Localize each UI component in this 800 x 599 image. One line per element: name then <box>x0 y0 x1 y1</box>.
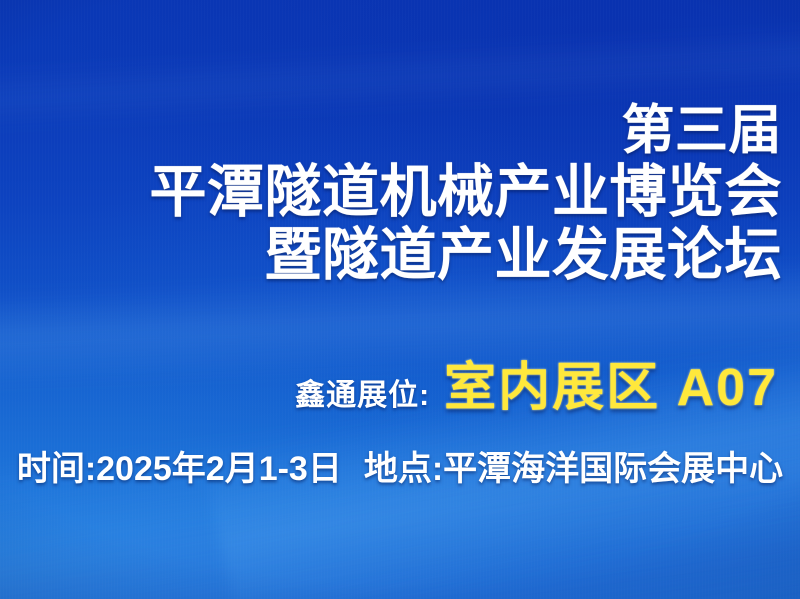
event-title-line-2: 平潭隧道机械产业博览会 <box>150 164 783 221</box>
event-title-line-3: 暨隧道产业发展论坛 <box>150 227 783 284</box>
poster-content: 第三届 平潭隧道机械产业博览会 暨隧道产业发展论坛 鑫通展位: 室内展区 A07… <box>0 0 800 599</box>
event-date: 时间:2025年2月1-3日 <box>17 441 342 490</box>
event-title-line-1: 第三届 <box>150 104 783 157</box>
booth-label: 鑫通展位: <box>295 370 430 414</box>
event-title-block: 第三届 平潭隧道机械产业博览会 暨隧道产业发展论坛 <box>150 104 783 284</box>
exhibition-poster: 第三届 平潭隧道机械产业博览会 暨隧道产业发展论坛 鑫通展位: 室内展区 A07… <box>0 0 800 599</box>
event-details-row: 时间:2025年2月1-3日 地点:平潭海洋国际会展中心 <box>0 441 800 490</box>
booth-info: 鑫通展位: 室内展区 A07 <box>295 345 778 420</box>
booth-number: 室内展区 A07 <box>444 345 778 420</box>
event-venue: 地点:平潭海洋国际会展中心 <box>364 441 783 490</box>
